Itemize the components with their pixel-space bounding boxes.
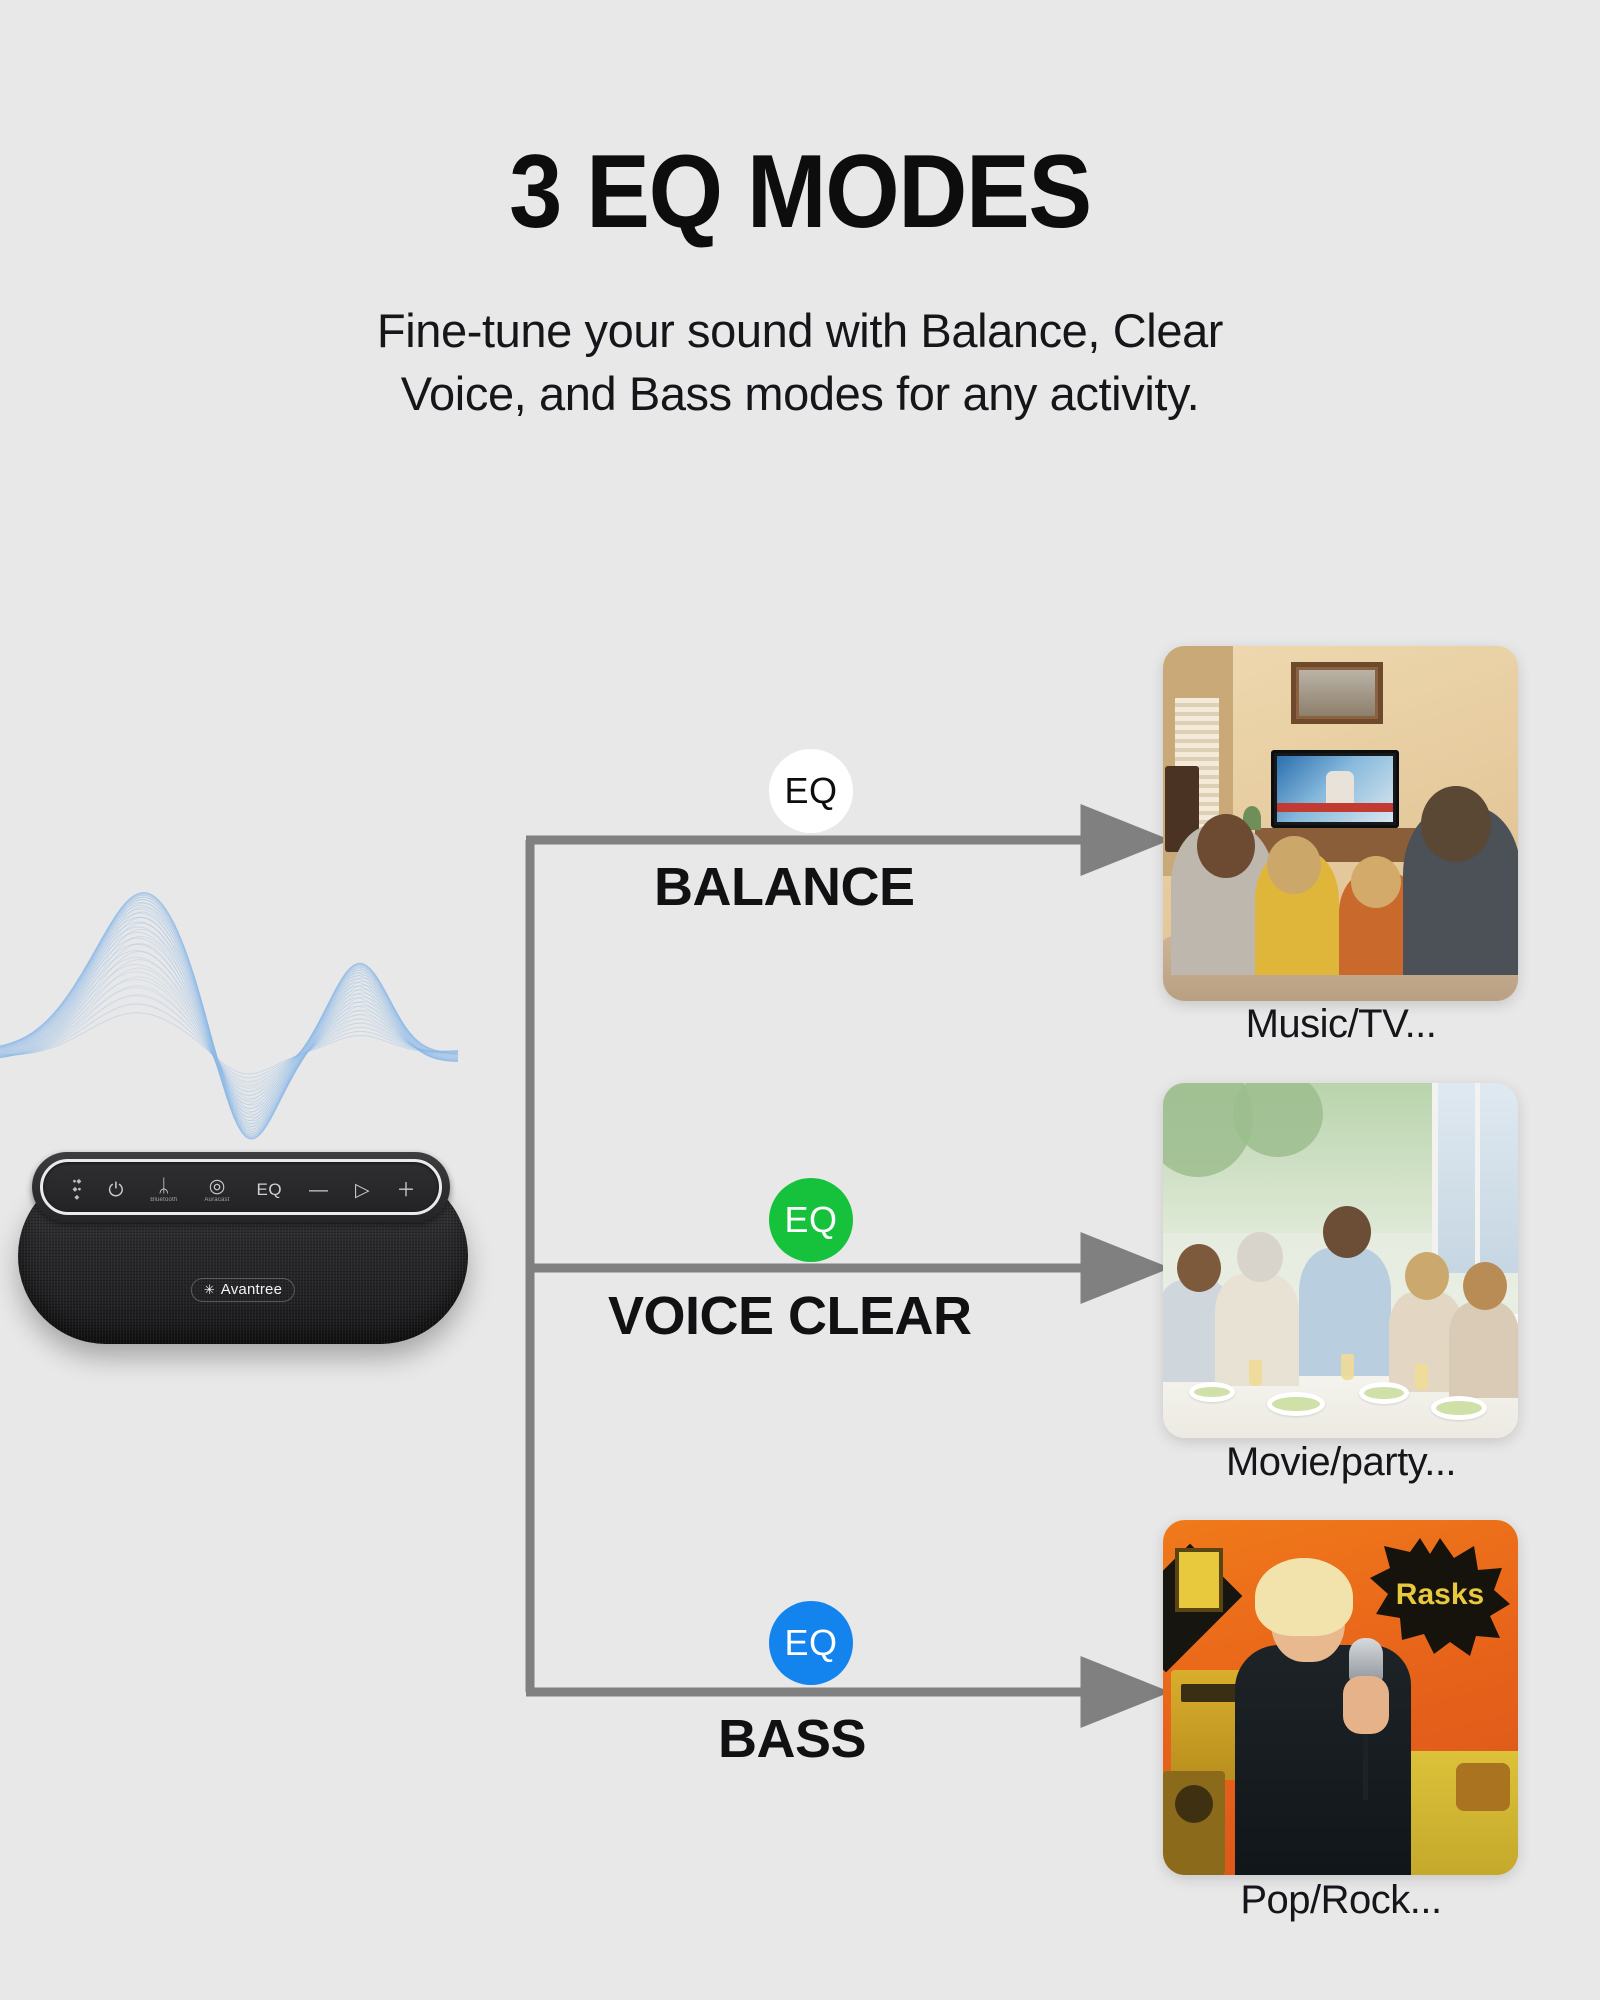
volume-up-button[interactable]: ＋	[397, 1181, 416, 1200]
brand-logo: ✳ Avantree	[191, 1278, 295, 1302]
power-button[interactable]: ⏻	[108, 1181, 123, 1200]
bluetooth-icon: ᛦ	[158, 1177, 169, 1196]
mode-label-bass: BASS	[718, 1708, 866, 1770]
speaker-product-image: ●◆◆●◆ ⏻ ᛦ Bluetooth ◎ Auracast EQ —	[18, 1152, 468, 1352]
play-icon: ▷	[355, 1181, 370, 1200]
photo-card-voice-clear[interactable]	[1163, 1083, 1518, 1438]
page-title: 3 EQ MODES	[64, 140, 1536, 244]
minus-icon: —	[309, 1181, 328, 1200]
sound-wave-graphic	[0, 855, 460, 1185]
eq-badge-bass-label: EQ	[784, 1622, 837, 1664]
photo-card-bass[interactable]: Rasks	[1163, 1520, 1518, 1875]
bluetooth-label: Bluetooth	[150, 1197, 177, 1203]
power-icon: ⏻	[108, 1181, 123, 1200]
mode-label-voice-clear: VOICE CLEAR	[608, 1285, 972, 1347]
auracast-label: Auracast	[204, 1197, 229, 1203]
page-subtitle: Fine-tune your sound with Balance, Clear…	[195, 300, 1405, 425]
play-button[interactable]: ▷	[355, 1181, 370, 1200]
brand-name: Avantree	[221, 1281, 282, 1298]
eq-badge-voice-clear-label: EQ	[784, 1199, 837, 1241]
scene-family-watching-tv	[1163, 646, 1518, 1001]
scene-family-dinner-party	[1163, 1083, 1518, 1438]
header: 3 EQ MODES Fine-tune your sound with Bal…	[0, 0, 1600, 425]
volume-down-button[interactable]: —	[309, 1181, 328, 1200]
control-panel: ●◆◆●◆ ⏻ ᛦ Bluetooth ◎ Auracast EQ —	[43, 1162, 445, 1218]
plus-icon: ＋	[397, 1181, 416, 1200]
caption-balance: Music/TV...	[1131, 1002, 1551, 1047]
caption-bass: Pop/Rock...	[1131, 1878, 1551, 1923]
auracast-icon: ◎	[209, 1177, 226, 1196]
avantree-mark-icon: ✳	[204, 1283, 215, 1296]
scene-rock-singer: Rasks	[1163, 1520, 1518, 1875]
eq-badge-balance[interactable]: EQ	[769, 749, 853, 833]
led-indicators-icon: ●◆◆●◆	[72, 1179, 81, 1202]
subtitle-line-1: Fine-tune your sound with Balance, Clear	[195, 300, 1405, 363]
eq-button-label: EQ	[257, 1180, 283, 1200]
speaker-top-panel: ●◆◆●◆ ⏻ ᛦ Bluetooth ◎ Auracast EQ —	[32, 1152, 450, 1222]
eq-button[interactable]: EQ	[257, 1180, 283, 1200]
subtitle-line-2: Voice, and Bass modes for any activity.	[195, 363, 1405, 426]
eq-badge-voice-clear[interactable]: EQ	[769, 1178, 853, 1262]
eq-badge-balance-label: EQ	[784, 770, 837, 812]
rasks-text: Rasks	[1396, 1578, 1484, 1611]
bluetooth-button[interactable]: ᛦ Bluetooth	[150, 1177, 177, 1203]
auracast-button[interactable]: ◎ Auracast	[204, 1177, 229, 1203]
photo-card-balance[interactable]	[1163, 646, 1518, 1001]
mode-label-balance: BALANCE	[654, 856, 915, 918]
control-panel-ring: ●◆◆●◆ ⏻ ᛦ Bluetooth ◎ Auracast EQ —	[40, 1159, 442, 1215]
rasks-poster: Rasks	[1370, 1538, 1510, 1656]
caption-voice-clear: Movie/party...	[1131, 1440, 1551, 1485]
eq-badge-bass[interactable]: EQ	[769, 1601, 853, 1685]
